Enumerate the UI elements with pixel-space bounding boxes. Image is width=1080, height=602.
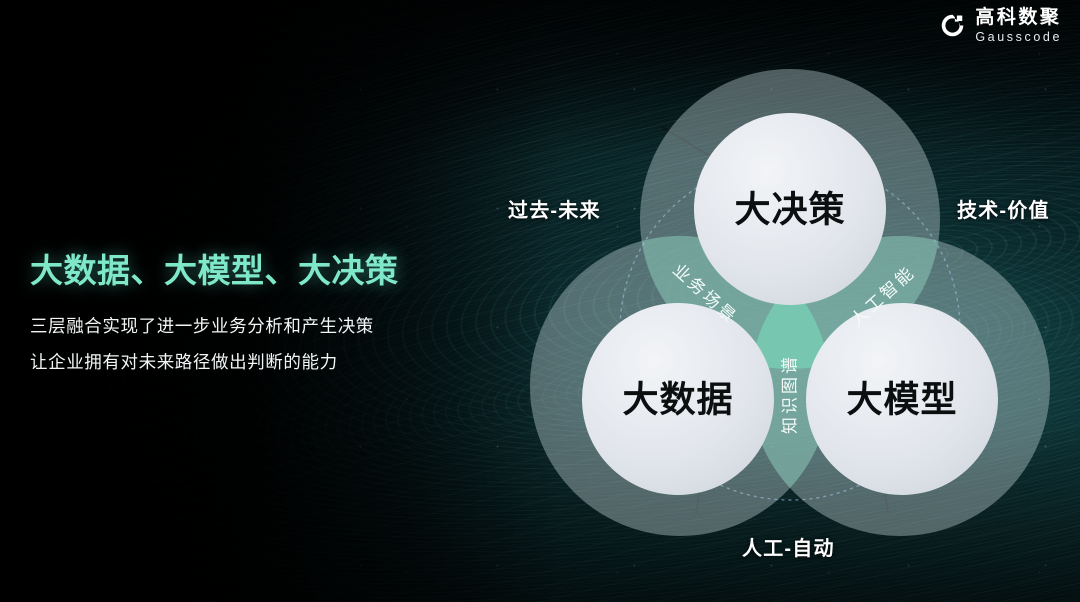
logo-chinese-name: 高科数聚 — [975, 8, 1062, 27]
venn-diagram: 大决策 大数据 大模型 业务场景 人工智能 知识图谱 — [500, 14, 1080, 594]
subtitle-block: 三层融合实现了进一步业务分析和产生决策 让企业拥有对未来路径做出判断的能力 — [30, 309, 460, 381]
logo-wordmark: 高科数聚 Gausscode — [975, 8, 1062, 44]
logo-english-name: Gausscode — [975, 31, 1062, 44]
subtitle-line-1: 三层融合实现了进一步业务分析和产生决策 — [30, 309, 460, 345]
axis-caption-technology-value: 技术-价值 — [957, 194, 1050, 223]
brand-logo: 高科数聚 Gausscode — [939, 8, 1062, 44]
axis-caption-past-future: 过去-未来 — [508, 194, 601, 223]
axis-caption-manual-automatic: 人工-自动 — [742, 532, 835, 561]
page-title: 大数据、大模型、大决策 — [30, 250, 460, 291]
node-label-decision: 大决策 — [734, 189, 845, 230]
gausscode-g-icon — [939, 12, 966, 39]
intersection-label-knowledge-graph: 知识图谱 — [781, 354, 800, 434]
node-label-bigmodel: 大模型 — [846, 379, 957, 420]
subtitle-line-2: 让企业拥有对未来路径做出判断的能力 — [30, 345, 460, 381]
slide-canvas: 高科数聚 Gausscode 大数据、大模型、大决策 三层融合实现了进一步业务分… — [0, 0, 1080, 602]
headline-block: 大数据、大模型、大决策 三层融合实现了进一步业务分析和产生决策 让企业拥有对未来… — [30, 250, 460, 381]
node-label-bigdata: 大数据 — [622, 379, 733, 420]
